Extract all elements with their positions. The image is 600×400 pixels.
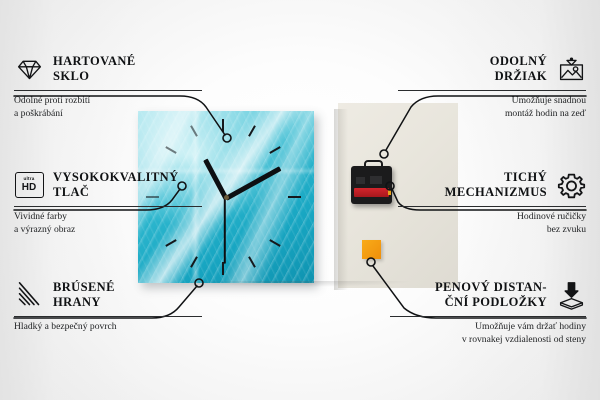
divider: [14, 90, 202, 91]
feature-title: TICHÝ MECHANIZMUS: [445, 170, 547, 200]
mechanism-slot: [356, 177, 365, 184]
feature-subtitle: Umožňuje vám držať hodiny v rovnakej vzd…: [390, 321, 586, 346]
feature-subtitle-line: Umožňuje vám držať hodiny: [390, 321, 586, 334]
clock-tick: [222, 262, 224, 275]
feature-title-line: TLAČ: [53, 185, 179, 200]
feature-header: ultra HD VYSOKOKVALITNÝ TLAČ: [14, 168, 202, 202]
feature-header: HARTOVANÉ SKLO: [14, 52, 202, 86]
ultra-hd-badge: ultra HD: [15, 172, 44, 198]
divider: [398, 90, 586, 91]
feature-subtitle-line: Odolné proti rozbití: [14, 95, 202, 108]
battery: [354, 188, 389, 197]
mechanism-hanger: [364, 160, 383, 170]
feature-subtitle-line: montáž hodin na zeď: [398, 108, 586, 121]
feature-hardened-glass: HARTOVANÉ SKLO Odolné proti rozbití a po…: [14, 52, 202, 120]
feature-title: HARTOVANÉ SKLO: [53, 54, 136, 84]
feature-title-line: DRŽIAK: [490, 69, 547, 84]
feature-header: PENOVÝ DISTAN- ČNÍ PODLOŽKY: [390, 278, 586, 312]
feature-title: ODOLNÝ DRŽIAK: [490, 54, 547, 84]
ultra-hd-main-text: HD: [22, 183, 36, 193]
feature-header: ODOLNÝ DRŽIAK: [398, 52, 586, 86]
feature-subtitle-line: v rovnakej vzdialenosti od steny: [390, 334, 586, 347]
feature-title-line: VYSOKOKVALITNÝ: [53, 170, 179, 185]
feature-title-line: TICHÝ: [445, 170, 547, 185]
feature-subtitle-line: Vividné farby: [14, 211, 202, 224]
clock-tick: [288, 196, 301, 198]
foam-spacer-pad: [362, 240, 381, 259]
feature-header: BRÚSENÉ HRANY: [14, 278, 202, 312]
feature-title-line: HARTOVANÉ: [53, 54, 136, 69]
clock-tick: [222, 119, 224, 132]
infographic-canvas: HARTOVANÉ SKLO Odolné proti rozbití a po…: [0, 0, 600, 400]
feature-title-line: ODOLNÝ: [490, 54, 547, 69]
gear-icon: [556, 170, 586, 200]
feature-subtitle-line: Hodinové ručičky: [398, 211, 586, 224]
feature-subtitle-line: bez zvuku: [398, 224, 586, 237]
ultra-hd-icon: ultra HD: [14, 170, 44, 200]
wall-shadow: [334, 109, 348, 290]
feature-subtitle: Vividné farby a výrazný obraz: [14, 211, 202, 236]
divider: [390, 316, 586, 317]
feature-high-quality-print: ultra HD VYSOKOKVALITNÝ TLAČ Vividné far…: [14, 168, 202, 236]
divider: [398, 206, 586, 207]
feature-title-line: MECHANIZMUS: [445, 185, 547, 200]
diamond-icon: [14, 54, 44, 84]
feature-subtitle-line: Hladký a bezpečný povrch: [14, 321, 202, 334]
feature-subtitle: Umožňuje snadnou montáž hodin na zeď: [398, 95, 586, 120]
feature-header: TICHÝ MECHANIZMUS: [398, 168, 586, 202]
feature-subtitle-line: a výrazný obraz: [14, 224, 202, 237]
feature-subtitle-line: Umožňuje snadnou: [398, 95, 586, 108]
feature-polished-edges: BRÚSENÉ HRANY Hladký a bezpečný povrch: [14, 278, 202, 334]
feature-subtitle: Hodinové ručičky bez zvuku: [398, 211, 586, 236]
feature-title-line: ČNÍ PODLOŽKY: [435, 295, 547, 310]
feature-durable-hanger: ODOLNÝ DRŽIAK Umožňuje snadnou montáž ho…: [398, 52, 586, 120]
clock-mechanism: [351, 166, 392, 204]
feature-title: PENOVÝ DISTAN- ČNÍ PODLOŽKY: [435, 280, 547, 310]
feature-foam-spacers: PENOVÝ DISTAN- ČNÍ PODLOŽKY Umožňuje vám…: [390, 278, 586, 346]
polished-edges-icon: [14, 280, 44, 310]
feature-title-line: PENOVÝ DISTAN-: [435, 280, 547, 295]
feature-title: BRÚSENÉ HRANY: [53, 280, 115, 310]
mechanism-slot: [370, 176, 382, 184]
feature-subtitle-line: a poškrábání: [14, 108, 202, 121]
foam-spacer-icon: [556, 280, 586, 310]
feature-subtitle: Odolné proti rozbití a poškrábání: [14, 95, 202, 120]
feature-title-line: SKLO: [53, 69, 136, 84]
divider: [14, 316, 202, 317]
clock-second-hand: [224, 197, 226, 263]
feature-silent-mechanism: TICHÝ MECHANIZMUS Hodinové ručičky bez z…: [398, 168, 586, 236]
picture-hanger-icon: [556, 54, 586, 84]
feature-title-line: BRÚSENÉ: [53, 280, 115, 295]
feature-subtitle: Hladký a bezpečný povrch: [14, 321, 202, 334]
clock-center-hub: [224, 195, 229, 200]
divider: [14, 206, 202, 207]
feature-title-line: HRANY: [53, 295, 115, 310]
feature-title: VYSOKOKVALITNÝ TLAČ: [53, 170, 179, 200]
